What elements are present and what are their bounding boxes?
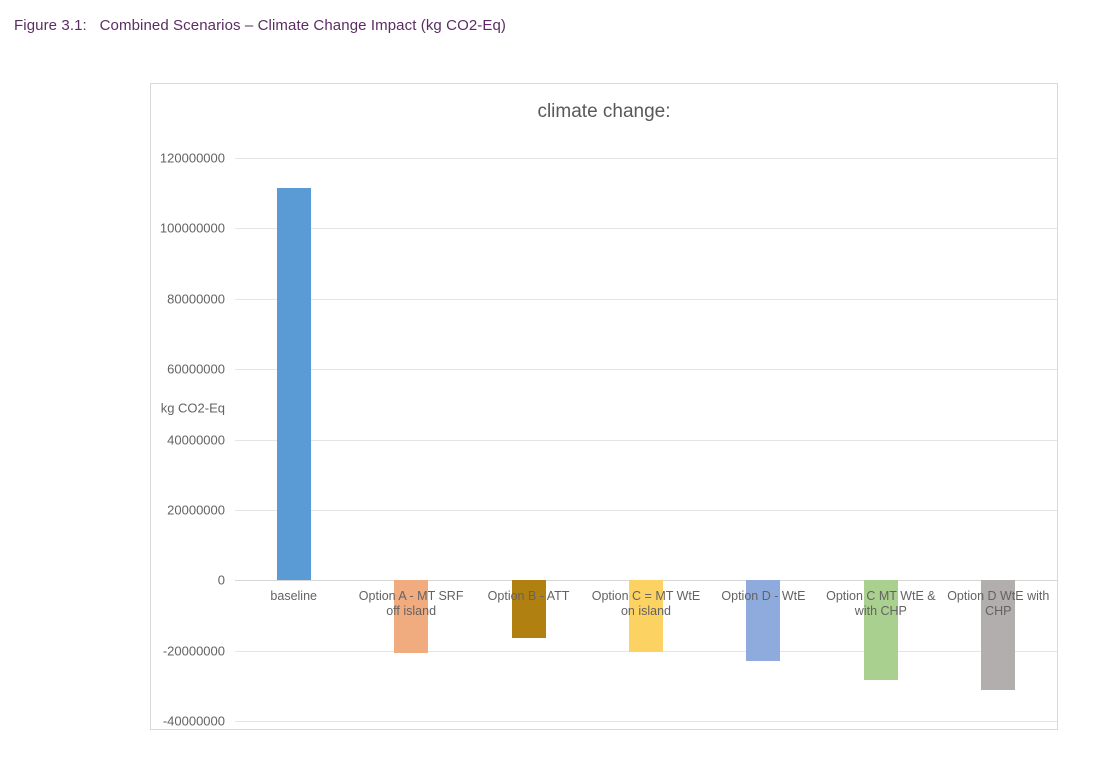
chart-container: climate change: 120000000100000000800000… xyxy=(150,83,1058,730)
y-axis-tick-label: -40000000 xyxy=(163,714,225,729)
y-axis-tick-label: -20000000 xyxy=(163,643,225,658)
bar xyxy=(746,580,780,661)
bar xyxy=(277,188,311,580)
gridline xyxy=(235,721,1057,722)
y-axis-tick-label: 0 xyxy=(218,573,225,588)
figure-caption: Figure 3.1: Combined Scenarios – Climate… xyxy=(14,17,506,34)
y-axis-tick-labels: 1200000001000000008000000060000000400000… xyxy=(151,158,225,721)
y-axis-tick-label: 40000000 xyxy=(167,432,225,447)
gridline xyxy=(235,228,1057,229)
y-axis-tick-label: 20000000 xyxy=(167,502,225,517)
gridline xyxy=(235,158,1057,159)
chart-title: climate change: xyxy=(151,101,1057,123)
gridline xyxy=(235,510,1057,511)
bar xyxy=(864,580,898,680)
y-axis-tick-label: 60000000 xyxy=(167,362,225,377)
gridline xyxy=(235,299,1057,300)
y-axis-tick-label: 120000000 xyxy=(160,151,225,166)
bar xyxy=(394,580,428,653)
bar xyxy=(512,580,546,638)
bar xyxy=(629,580,663,652)
gridline xyxy=(235,369,1057,370)
y-axis-title: kg CO2-Eq xyxy=(151,400,225,415)
y-axis-tick-label: 100000000 xyxy=(160,221,225,236)
gridline xyxy=(235,440,1057,441)
y-axis-tick-label: 80000000 xyxy=(167,291,225,306)
x-axis-category-label: baseline xyxy=(235,589,352,604)
bar xyxy=(981,580,1015,690)
plot-area: 1200000001000000008000000060000000400000… xyxy=(235,158,1057,721)
